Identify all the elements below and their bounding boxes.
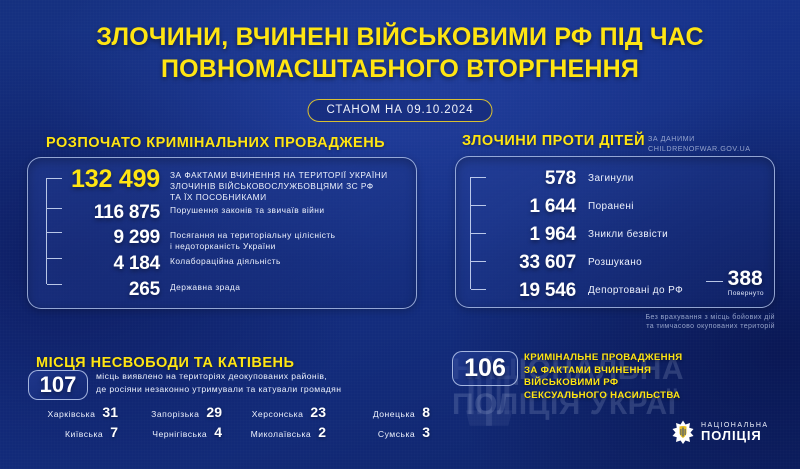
- region-value: 4: [214, 424, 222, 440]
- stat-row: 19 546 Депортовані до РФ: [464, 281, 683, 301]
- stat-value: 4 184: [40, 254, 160, 274]
- stat-label: Порушення законів та звичаїв війни: [170, 203, 325, 216]
- infographic-root: НАЦІОНАЛЬНА ПОЛІЦІЯ УКРАЇ ЗЛОЧИНИ, ВЧИНЕ…: [0, 0, 800, 469]
- sexual-violence-description: КРИМІНАЛЬНЕ ПРОВАДЖЕННЯ ЗА ФАКТАМИ ВЧИНЕ…: [524, 352, 682, 403]
- logo-line-2: ПОЛІЦІЯ: [701, 429, 769, 443]
- section-heading-places-of-detention: МІСЦЯ НЕСВОБОДИ ТА КАТІВЕНЬ: [36, 355, 294, 371]
- section-heading-crimes-against-children: ЗЛОЧИНИ ПРОТИ ДІТЕЙ: [462, 133, 645, 149]
- stat-value: 265: [40, 280, 160, 300]
- children-source-note: ЗА ДАНИМИ CHILDRENOFWAR.GOV.UA: [648, 134, 751, 153]
- region-value: 31: [102, 404, 118, 420]
- source-line-1: ЗА ДАНИМИ: [648, 134, 751, 144]
- region-value: 29: [206, 404, 222, 420]
- stat-label-line-2: і недоторканість України: [170, 241, 335, 252]
- deported-returned-group: 388 Повернуто: [706, 269, 764, 297]
- places-description-line-2: де росіяни незаконно утримували та катув…: [96, 383, 341, 396]
- region-name: Чернігівська: [152, 429, 207, 439]
- stat-label: Загинули: [588, 169, 634, 186]
- stat-label: ЗА ФАКТАМИ ВЧИНЕННЯ НА ТЕРИТОРІЇ УКРАЇНИ…: [170, 166, 388, 202]
- criminal-proceedings-card: 132 499 ЗА ФАКТАМИ ВЧИНЕННЯ НА ТЕРИТОРІЇ…: [27, 157, 417, 309]
- region-name: Херсонська: [252, 409, 304, 419]
- stat-label: Державна зрада: [170, 280, 240, 293]
- sexual-violence-count-badge: 106: [452, 351, 518, 386]
- stat-value: 578: [464, 169, 576, 189]
- section-heading-criminal-proceedings: РОЗПОЧАТО КРИМІНАЛЬНИХ ПРОВАДЖЕНЬ: [46, 135, 385, 151]
- sexual-violence-line-3: ВІЙСЬКОВИМИ РФ: [524, 377, 682, 390]
- places-count-badge: 107: [28, 370, 88, 400]
- region-value: 23: [310, 404, 326, 420]
- region-value: 7: [110, 424, 118, 440]
- region-name: Сумська: [378, 429, 415, 439]
- page-title: ЗЛОЧИНИ, ВЧИНЕНІ ВІЙСЬКОВИМИ РФ ПІД ЧАС …: [0, 22, 800, 85]
- stat-row: 9 299 Посягання на територіальну цілісні…: [40, 228, 335, 252]
- page-title-line-2: ПОВНОМАСШТАБНОГО ВТОРГНЕННЯ: [0, 54, 800, 86]
- region-name: Донецька: [373, 409, 415, 419]
- children-crimes-card: 578 Загинули 1 644 Поранені 1 964 Зникли…: [455, 156, 775, 308]
- children-footnote: Без врахування з місць бойових дій та ти…: [455, 313, 775, 332]
- region-item: Херсонська 23: [226, 404, 326, 424]
- stat-value: 33 607: [464, 253, 576, 273]
- stat-label-line-1: ЗА ФАКТАМИ ВЧИНЕННЯ НА ТЕРИТОРІЇ УКРАЇНИ: [170, 170, 388, 181]
- stat-row: 265 Державна зрада: [40, 280, 240, 300]
- stat-label: Розшукано: [588, 253, 642, 270]
- region-item: Запорізька 29: [122, 404, 222, 424]
- national-police-logo: НАЦІОНАЛЬНА ПОЛІЦІЯ: [672, 420, 769, 444]
- region-name: Київська: [65, 429, 103, 439]
- returned-value: 388: [728, 269, 764, 289]
- region-value: 3: [422, 424, 430, 440]
- stat-value: 9 299: [40, 228, 160, 248]
- stat-value: 1 644: [464, 197, 576, 217]
- police-star-badge-icon: [672, 420, 694, 444]
- stat-label: Посягання на територіальну цілісність і …: [170, 228, 335, 252]
- footnote-line-2: та тимчасово окупованих територій: [455, 322, 775, 331]
- stat-row: 578 Загинули: [464, 169, 634, 189]
- region-item: Миколаївська 2: [226, 424, 326, 444]
- date-badge: СТАНОМ НА 09.10.2024: [308, 99, 493, 122]
- stat-value: 1 964: [464, 225, 576, 245]
- stat-row: 1 964 Зникли безвісти: [464, 225, 668, 245]
- region-item: Чернігівська 4: [122, 424, 222, 444]
- region-item: Сумська 3: [330, 424, 430, 444]
- sexual-violence-line-4: СЕКСУАЛЬНОГО НАСИЛЬСТВА: [524, 390, 682, 403]
- connector-dash: [706, 281, 723, 282]
- stat-value: 116 875: [40, 203, 160, 223]
- stat-row: 132 499 ЗА ФАКТАМИ ВЧИНЕННЯ НА ТЕРИТОРІЇ…: [40, 166, 388, 202]
- region-name: Миколаївська: [251, 429, 312, 439]
- footnote-line-1: Без врахування з місць бойових дій: [455, 313, 775, 322]
- region-item: Донецька 8: [330, 404, 430, 424]
- region-value: 8: [422, 404, 430, 420]
- source-line-2: CHILDRENOFWAR.GOV.UA: [648, 144, 751, 154]
- sexual-violence-line-2: ЗА ФАКТАМИ ВЧИНЕННЯ: [524, 365, 682, 378]
- stat-row: 4 184 Колабораційна діяльність: [40, 254, 281, 274]
- criminal-rows: 132 499 ЗА ФАКТАМИ ВЧИНЕННЯ НА ТЕРИТОРІЇ…: [40, 158, 418, 310]
- returned-caption: Повернуто: [728, 290, 764, 297]
- stat-label: Зникли безвісти: [588, 225, 668, 242]
- stat-value: 132 499: [40, 166, 160, 192]
- regions-grid: Харківська 31 Запорізька 29 Херсонська 2…: [18, 404, 430, 444]
- stat-row: 33 607 Розшукано: [464, 253, 642, 273]
- stat-row: 116 875 Порушення законів та звичаїв вій…: [40, 203, 325, 223]
- stat-label-line-2: ЗЛОЧИНІВ ВІЙСЬКОВОСЛУЖБОВЦЯМИ ЗС РФ: [170, 181, 388, 192]
- places-description: місць виявлено на територіях деокуповани…: [96, 370, 341, 396]
- stat-value: 19 546: [464, 281, 576, 301]
- stat-row: 1 644 Поранені: [464, 197, 634, 217]
- stat-label: Депортовані до РФ: [588, 281, 683, 298]
- logo-text: НАЦІОНАЛЬНА ПОЛІЦІЯ: [701, 422, 769, 443]
- region-name: Запорізька: [151, 409, 199, 419]
- region-item: Харківська 31: [18, 404, 118, 424]
- stat-label: Колабораційна діяльність: [170, 254, 281, 267]
- places-description-line-1: місць виявлено на територіях деокуповани…: [96, 370, 341, 383]
- page-title-line-1: ЗЛОЧИНИ, ВЧИНЕНІ ВІЙСЬКОВИМИ РФ ПІД ЧАС: [0, 22, 800, 54]
- region-name: Харківська: [47, 409, 95, 419]
- stat-label: Поранені: [588, 197, 634, 214]
- stat-label-line-1: Посягання на територіальну цілісність: [170, 230, 335, 241]
- region-value: 2: [318, 424, 326, 440]
- sexual-violence-line-1: КРИМІНАЛЬНЕ ПРОВАДЖЕННЯ: [524, 352, 682, 365]
- stat-label-line-3: ТА ЇХ ПОСОБНИКАМИ: [170, 192, 388, 203]
- region-item: Київська 7: [18, 424, 118, 444]
